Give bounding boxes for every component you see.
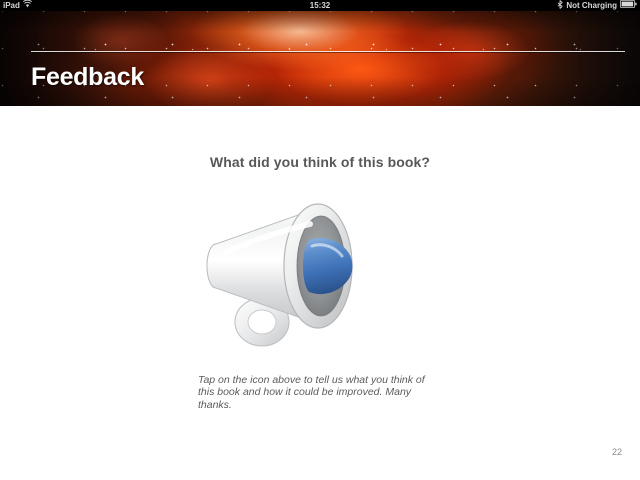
clock-time: 15:32 [310,1,330,10]
header-banner: Feedback [0,11,640,106]
megaphone-icon[interactable] [200,194,380,354]
charging-status-label: Not Charging [566,0,617,11]
page-title: Feedback [31,63,144,92]
bluetooth-icon [557,0,563,12]
question-heading: What did you think of this book? [0,154,640,170]
status-bar: iPad 15:32 Not Charging [0,0,640,11]
ipad-book-feedback-screen: iPad 15:32 Not Charging [0,0,640,480]
instruction-caption: Tap on the icon above to tell us what yo… [198,374,438,411]
status-bar-center: 15:32 [0,0,640,11]
status-bar-right: Not Charging [557,0,637,11]
page-number: 22 [612,447,622,457]
header-divider-rule [31,51,625,52]
battery-icon [620,0,637,11]
content-area: What did you think of this book? [0,106,640,480]
